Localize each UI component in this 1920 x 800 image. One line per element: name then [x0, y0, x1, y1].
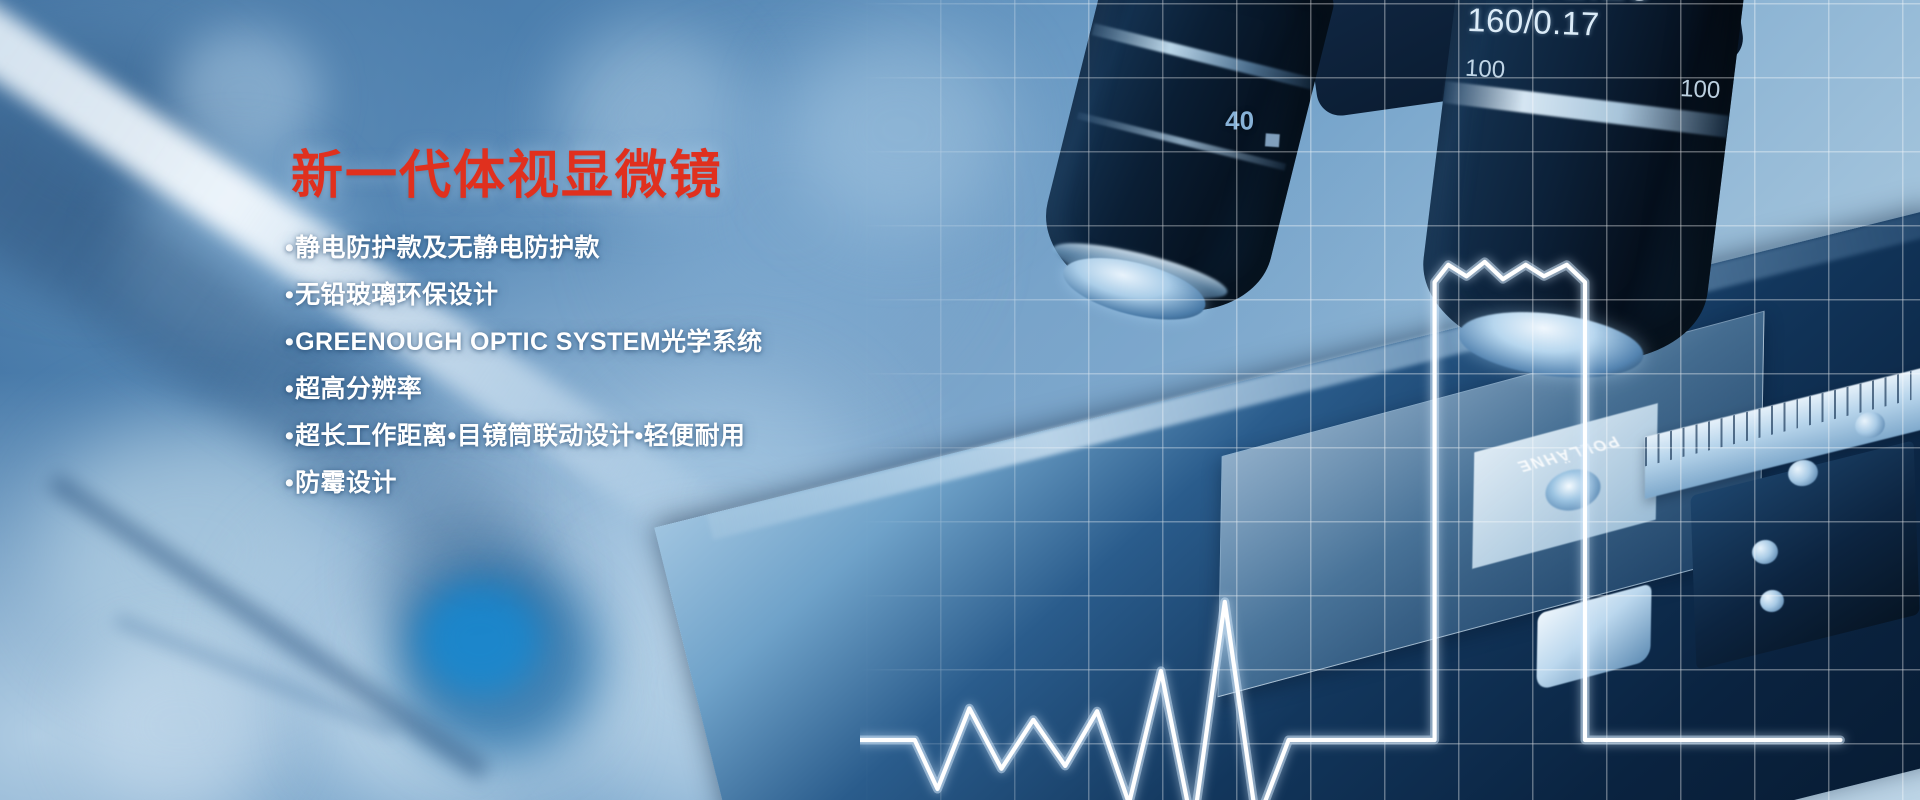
- feature-item: •防霉设计: [285, 471, 1045, 496]
- bullet-icon: •: [285, 234, 294, 262]
- feature-label: 无铅玻璃环保设计: [295, 281, 498, 309]
- feature-label: GREENOUGH OPTIC SYSTEM光学系统: [295, 328, 762, 356]
- bullet-icon: •: [285, 281, 294, 309]
- feature-list: •静电防护款及无静电防护款•无铅玻璃环保设计•GREENOUGH OPTIC S…: [285, 236, 1045, 496]
- feature-label: 超高分辨率: [295, 375, 422, 403]
- banner-copy: 新一代体视显微镜 •静电防护款及无静电防护款•无铅玻璃环保设计•GREENOUG…: [285, 150, 1045, 518]
- hero-banner: POLLÄHNE 40 100/1.25 160/0.17 100 100: [0, 0, 1920, 800]
- bullet-icon: •: [285, 469, 294, 497]
- feature-item: •无铅玻璃环保设计: [285, 283, 1045, 308]
- bullet-icon: •: [285, 422, 294, 450]
- bullet-icon: •: [285, 328, 294, 356]
- feature-label: 静电防护款及无静电防护款: [295, 234, 600, 262]
- bullet-icon: •: [285, 375, 294, 403]
- feature-item: •超高分辨率: [285, 377, 1045, 402]
- page-title: 新一代体视显微镜: [291, 150, 1045, 202]
- feature-item: •静电防护款及无静电防护款: [285, 236, 1045, 261]
- feature-label: 超长工作距离•目镜筒联动设计•轻便耐用: [295, 422, 745, 450]
- feature-item: •GREENOUGH OPTIC SYSTEM光学系统: [285, 330, 1045, 355]
- feature-item: •超长工作距离•目镜筒联动设计•轻便耐用: [285, 424, 1045, 449]
- feature-label: 防霉设计: [295, 469, 397, 497]
